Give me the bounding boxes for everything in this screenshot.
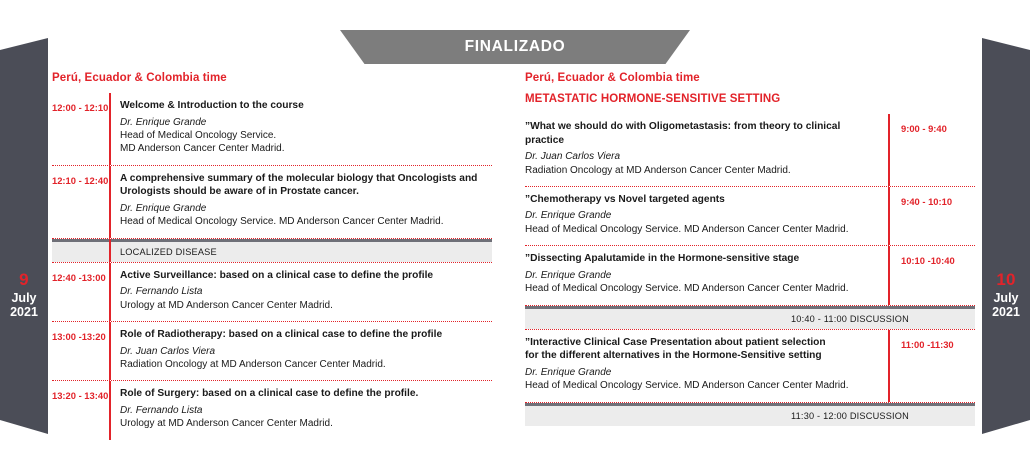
session-body: Welcome & Introduction to the courseDr. … xyxy=(111,93,492,165)
session-speaker: Dr. Juan Carlos Viera xyxy=(120,345,492,359)
discussion-band: 10:40 - 11:00 DISCUSSION xyxy=(525,306,975,329)
session-speaker: Dr. Enrique Grande xyxy=(525,269,878,283)
session-body: ”Chemotherapy vs Novel targeted agentsDr… xyxy=(525,187,888,245)
agenda-session[interactable]: 12:40 -13:00Active Surveillance: based o… xyxy=(52,263,492,321)
session-affiliation-line-2: MD Anderson Cancer Center Madrid. xyxy=(120,142,492,155)
agenda-band-wrapper: LOCALIZED DISEASE xyxy=(52,239,492,262)
session-title: ”Interactive Clinical Case Presentation … xyxy=(525,336,878,350)
status-ribbon-label: FINALIZADO xyxy=(465,38,566,56)
session-time: 13:00 -13:20 xyxy=(52,322,109,380)
section-header-label: LOCALIZED DISEASE xyxy=(52,247,217,257)
date-banner-right: 10 July 2021 xyxy=(982,38,1030,434)
session-title: Welcome & Introduction to the course xyxy=(120,99,492,113)
date-left-year: 2021 xyxy=(0,305,48,320)
session-body: A comprehensive summary of the molecular… xyxy=(111,166,492,238)
discussion-label: 11:30 - 12:00 DISCUSSION xyxy=(525,411,975,421)
session-speaker: Dr. Juan Carlos Viera xyxy=(525,150,878,164)
agenda-session[interactable]: 12:00 - 12:10Welcome & Introduction to t… xyxy=(52,93,492,165)
session-title: Active Surveillance: based on a clinical… xyxy=(120,269,492,283)
session-time: 12:10 - 12:40 xyxy=(52,166,109,238)
date-banner-left-inner: 9 July 2021 xyxy=(0,270,48,320)
session-speaker: Dr. Enrique Grande xyxy=(525,366,878,380)
date-right-month: July xyxy=(982,291,1030,306)
agenda-session[interactable]: ”Chemotherapy vs Novel targeted agentsDr… xyxy=(525,187,975,245)
session-speaker: Dr. Enrique Grande xyxy=(120,202,492,216)
session-speaker: Dr. Enrique Grande xyxy=(525,209,878,223)
session-time: 11:00 -11:30 xyxy=(890,330,975,402)
session-time: 12:00 - 12:10 xyxy=(52,93,109,165)
session-speaker: Dr. Enrique Grande xyxy=(120,116,492,130)
session-body: Role of Surgery: based on a clinical cas… xyxy=(111,381,492,439)
agenda-band-wrapper: 10:40 - 11:00 DISCUSSION xyxy=(525,306,975,329)
date-right-day: 10 xyxy=(982,270,1030,290)
session-affiliation: Radiation Oncology at MD Anderson Cancer… xyxy=(120,358,492,371)
date-left-month: July xyxy=(0,291,48,306)
band-rail xyxy=(109,239,111,262)
left-timezone-label: Perú, Ecuador & Colombia time xyxy=(52,72,492,84)
date-banner-left: 9 July 2021 xyxy=(0,38,48,434)
agenda-session[interactable]: ”Dissecting Apalutamide in the Hormone-s… xyxy=(525,246,975,304)
session-speaker: Dr. Fernando Lista xyxy=(120,285,492,299)
discussion-label: 10:40 - 11:00 DISCUSSION xyxy=(525,314,975,324)
agenda-session[interactable]: 13:20 - 13:40Role of Surgery: based on a… xyxy=(52,381,492,439)
date-banner-right-inner: 10 July 2021 xyxy=(982,270,1030,320)
session-body: Active Surveillance: based on a clinical… xyxy=(111,263,492,321)
session-body: ”Dissecting Apalutamide in the Hormone-s… xyxy=(525,246,888,304)
session-time: 9:40 - 10:10 xyxy=(890,187,975,245)
session-title: Role of Radiotherapy: based on a clinica… xyxy=(120,328,492,342)
right-agenda-rows: ”What we should do with Oligometastasis:… xyxy=(525,114,975,426)
session-title-line-2: for the different alternatives in the Ho… xyxy=(525,349,878,363)
session-time: 12:40 -13:00 xyxy=(52,263,109,321)
session-affiliation: Urology at MD Anderson Cancer Center Mad… xyxy=(120,299,492,312)
status-ribbon: FINALIZADO xyxy=(340,30,690,64)
session-title: ”Dissecting Apalutamide in the Hormone-s… xyxy=(525,252,878,266)
session-speaker: Dr. Fernando Lista xyxy=(120,404,492,418)
session-time: 13:20 - 13:40 xyxy=(52,381,109,439)
session-title: A comprehensive summary of the molecular… xyxy=(120,172,492,199)
session-body: ”Interactive Clinical Case Presentation … xyxy=(525,330,888,402)
agenda-session[interactable]: 12:10 - 12:40A comprehensive summary of … xyxy=(52,166,492,238)
session-affiliation: Urology at MD Anderson Cancer Center Mad… xyxy=(120,417,492,430)
session-affiliation: Head of Medical Oncology Service. xyxy=(120,129,492,142)
session-affiliation: Head of Medical Oncology Service. MD And… xyxy=(525,223,878,236)
agenda-column-day-10: Perú, Ecuador & Colombia time METASTATIC… xyxy=(525,72,975,426)
session-affiliation: Head of Medical Oncology Service. MD And… xyxy=(525,282,878,295)
session-affiliation: Radiation Oncology at MD Anderson Cancer… xyxy=(525,164,878,177)
agenda-column-day-9: Perú, Ecuador & Colombia time 12:00 - 12… xyxy=(52,72,492,440)
left-agenda-rows: 12:00 - 12:10Welcome & Introduction to t… xyxy=(52,93,492,440)
agenda-session[interactable]: ”Interactive Clinical Case Presentation … xyxy=(525,330,975,402)
session-affiliation: Head of Medical Oncology Service. MD And… xyxy=(120,215,492,228)
date-right-year: 2021 xyxy=(982,305,1030,320)
agenda-session[interactable]: 13:00 -13:20Role of Radiotherapy: based … xyxy=(52,322,492,380)
session-time: 9:00 - 9:40 xyxy=(890,114,975,186)
session-title: ”Chemotherapy vs Novel targeted agents xyxy=(525,193,878,207)
session-affiliation: Head of Medical Oncology Service. MD And… xyxy=(525,379,878,392)
session-title: Role of Surgery: based on a clinical cas… xyxy=(120,387,492,401)
session-body: Role of Radiotherapy: based on a clinica… xyxy=(111,322,492,380)
agenda-band-wrapper: 11:30 - 12:00 DISCUSSION xyxy=(525,403,975,426)
session-time: 10:10 -10:40 xyxy=(890,246,975,304)
session-title: ”What we should do with Oligometastasis:… xyxy=(525,120,878,147)
section-header-band: LOCALIZED DISEASE xyxy=(52,239,492,262)
discussion-band: 11:30 - 12:00 DISCUSSION xyxy=(525,403,975,426)
right-section-title: METASTATIC HORMONE-SENSITIVE SETTING xyxy=(525,93,975,105)
right-timezone-label: Perú, Ecuador & Colombia time xyxy=(525,72,975,84)
agenda-session[interactable]: ”What we should do with Oligometastasis:… xyxy=(525,114,975,186)
session-body: ”What we should do with Oligometastasis:… xyxy=(525,114,888,186)
date-left-day: 9 xyxy=(0,270,48,290)
